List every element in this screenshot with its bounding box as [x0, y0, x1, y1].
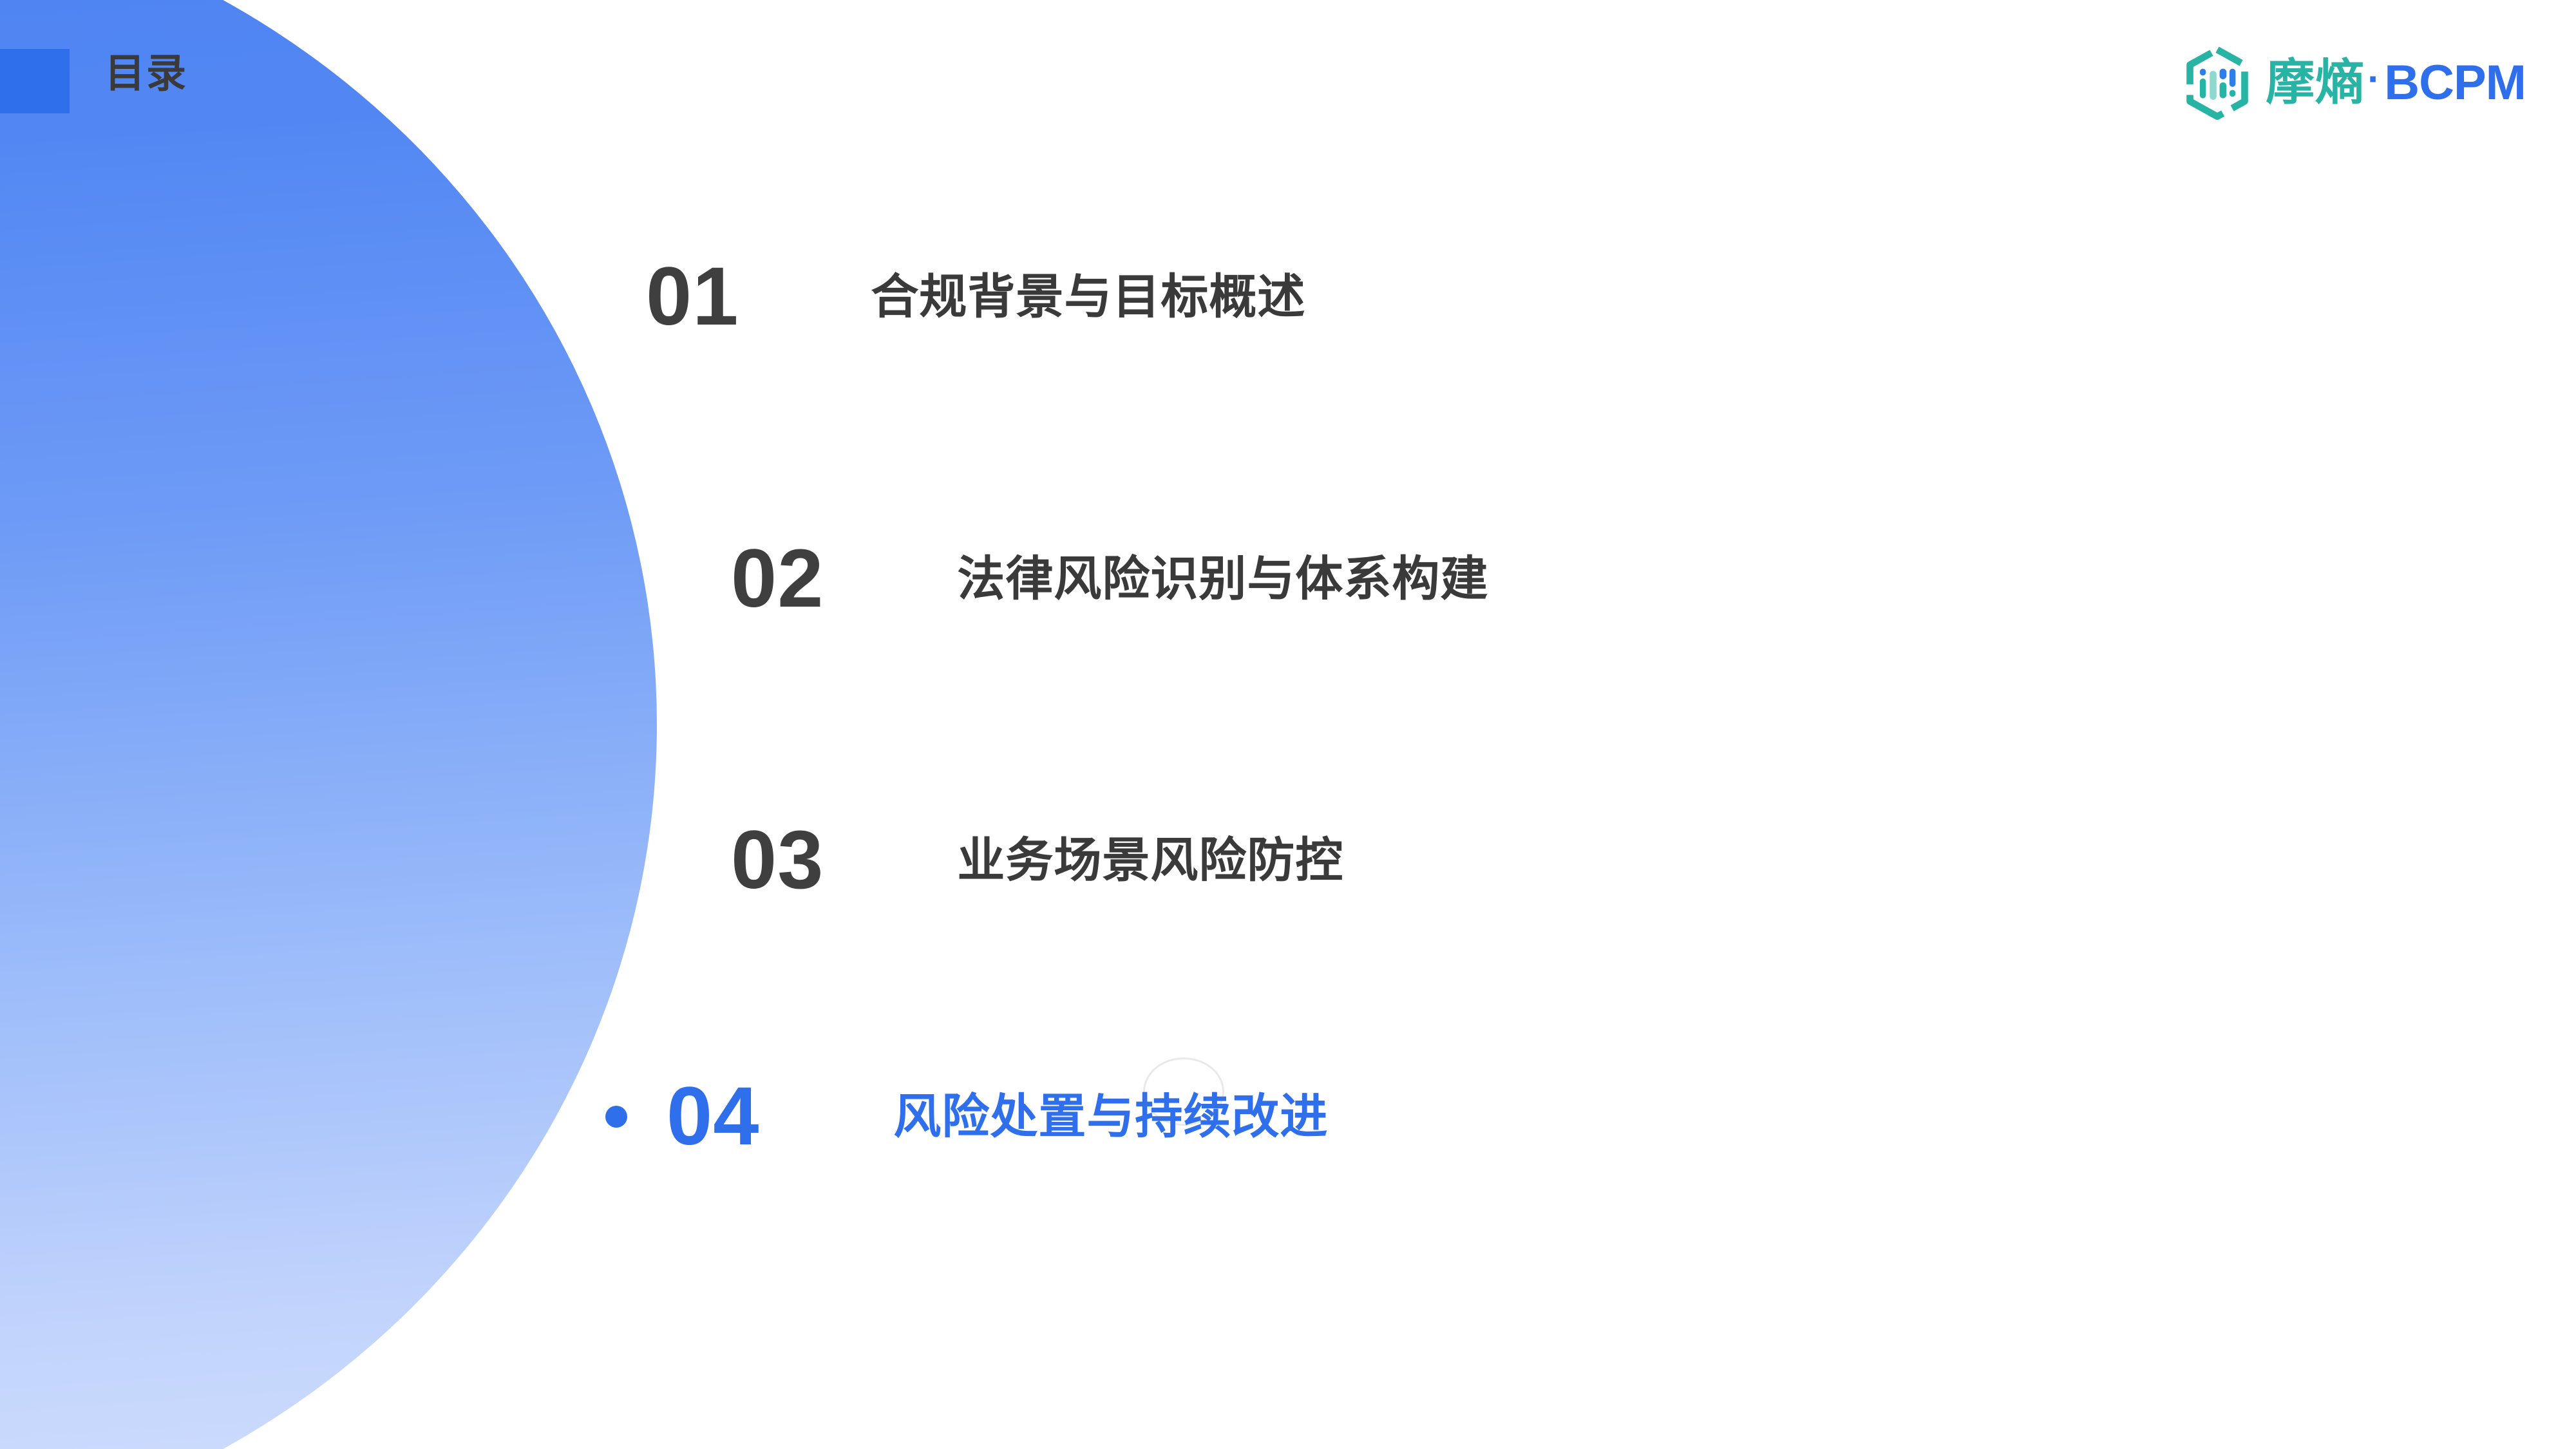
toc-number: 02	[731, 538, 824, 620]
active-bullet-icon	[605, 1106, 627, 1128]
table-of-contents: 01 合规背景与目标概述 02 法律风险识别与体系构建 03 业务场景风险防控 …	[0, 0, 2576, 1449]
slide-canvas: 目录 摩熵 · BCPM 01 合规背景与目标概述 02 法律风险识别与体系构建	[0, 0, 2576, 1449]
toc-number: 04	[667, 1075, 759, 1158]
toc-item-04[interactable]: 04 风险处置与持续改进	[667, 1075, 1328, 1158]
toc-label: 业务场景风险防控	[957, 837, 1343, 884]
toc-number: 03	[731, 819, 824, 902]
toc-item-01[interactable]: 01 合规背景与目标概述	[646, 256, 1305, 338]
toc-label: 合规背景与目标概述	[871, 273, 1305, 321]
toc-label: 风险处置与持续改进	[893, 1093, 1328, 1141]
toc-label: 法律风险识别与体系构建	[957, 555, 1488, 603]
toc-item-03[interactable]: 03 业务场景风险防控	[731, 819, 1343, 902]
toc-item-02[interactable]: 02 法律风险识别与体系构建	[731, 538, 1488, 620]
toc-number: 01	[646, 256, 739, 338]
